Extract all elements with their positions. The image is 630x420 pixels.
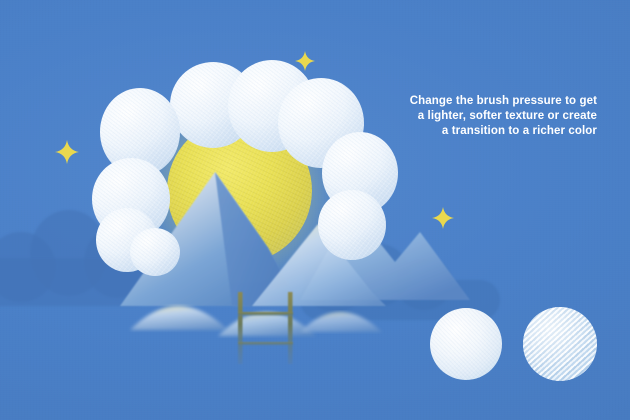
sphere-stroked-texture [523,307,597,381]
illustration-canvas: Change the brush pressure to get a light… [0,0,630,420]
sparkle-top-icon [295,51,315,71]
caption-line-2: a lighter, softer texture or create [337,109,597,124]
sphere-soft-grain [430,308,502,380]
sphere-sheen [523,307,597,381]
sphere-soft-texture [430,308,502,380]
caption-text: Change the brush pressure to get a light… [337,94,597,139]
sparkle-left-icon [55,140,79,164]
ladder-frame [238,292,293,364]
sparkle-right-icon [432,207,454,229]
ladder-rail-right [288,292,293,364]
ladder-rung-2 [238,342,293,346]
caption-line-3: a transition to a richer color [337,124,597,139]
ladder-rail-left [238,292,243,364]
ladder-rung-1 [238,312,293,316]
caption-line-1: Change the brush pressure to get [337,94,597,109]
